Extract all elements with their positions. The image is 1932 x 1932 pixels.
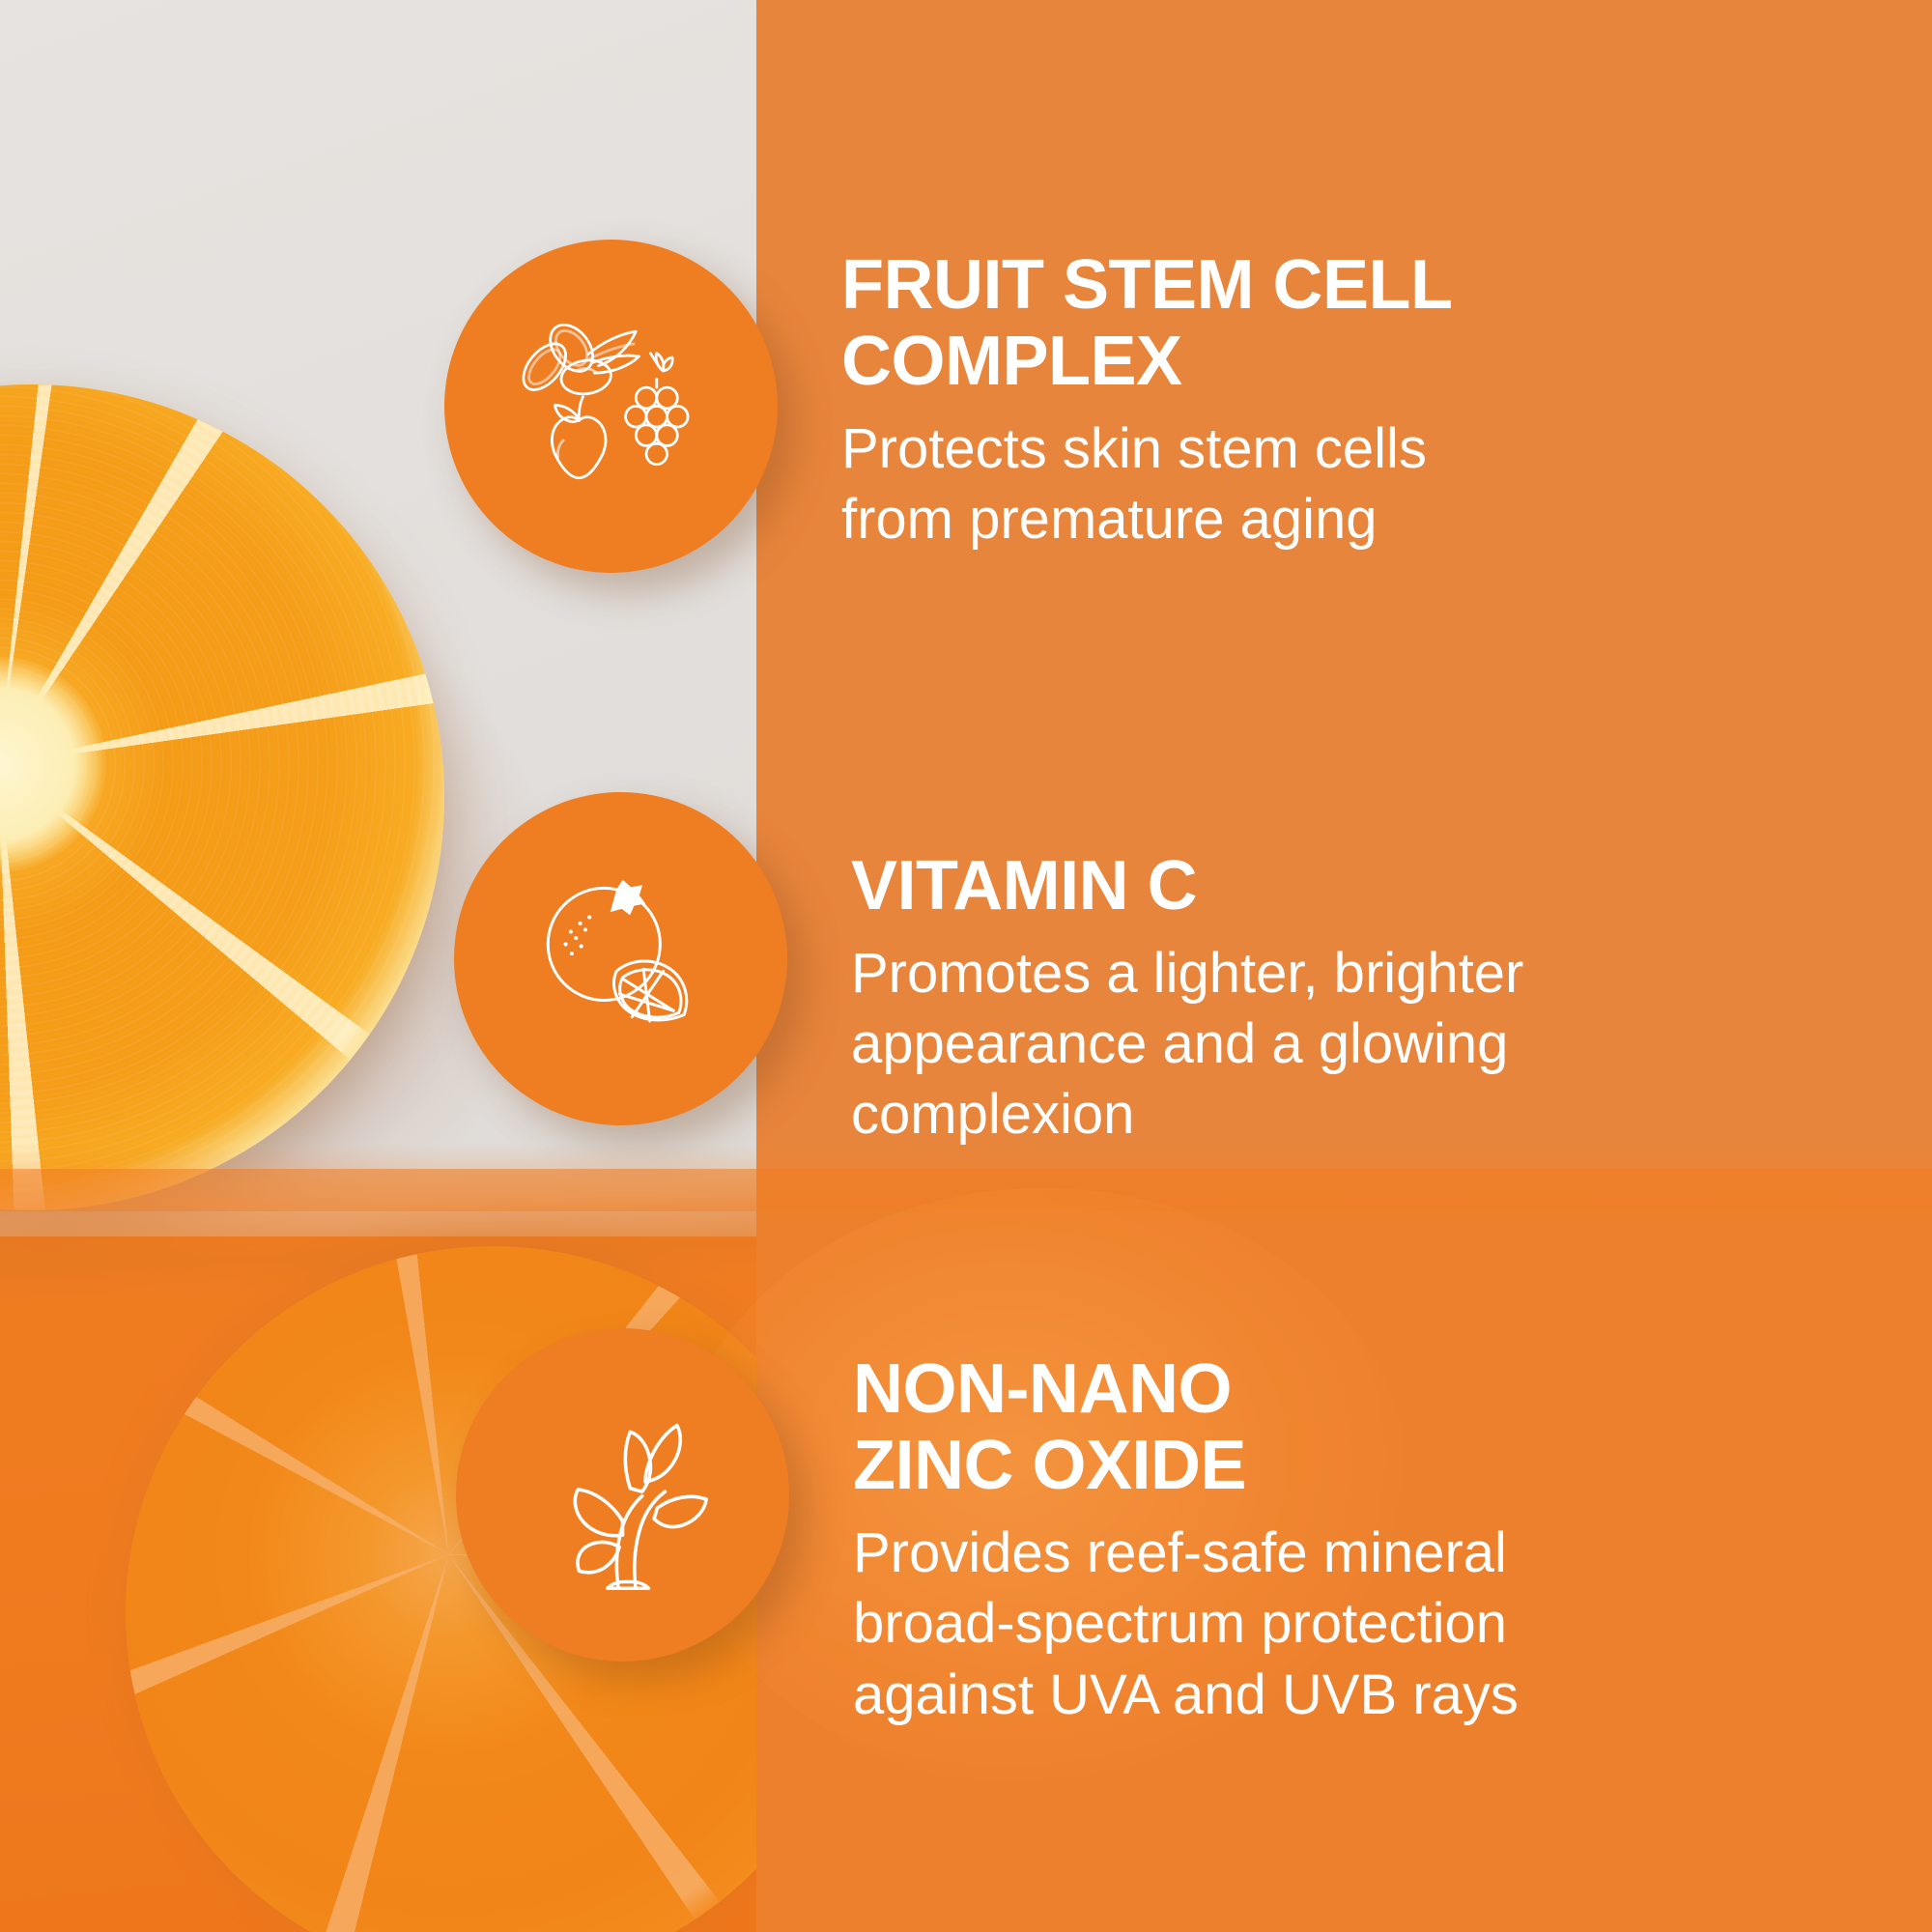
fruit-stem-cell-icon-badge (444, 240, 778, 573)
zinc-oxide-icon-badge (456, 1328, 789, 1662)
feature-title: FRUIT STEM CELL COMPLEX (841, 247, 1452, 400)
feature-text-vitamin-c: VITAMIN C Promotes a lighter, brighter a… (851, 792, 1523, 1150)
fruit-stem-cell-icon (507, 302, 715, 510)
coral-icon (514, 1386, 731, 1604)
feature-row-fruit-stem-cell: FRUIT STEM CELL COMPLEX Protects skin st… (444, 240, 1452, 573)
vitamin-c-icon-badge (454, 792, 787, 1125)
infographic-canvas: FRUIT STEM CELL COMPLEX Protects skin st… (0, 0, 1932, 1932)
feature-title: VITAMIN C (851, 848, 1523, 924)
feature-description: Provides reef-safe mineral broad-spectru… (853, 1518, 1519, 1729)
feature-text-fruit-stem-cell: FRUIT STEM CELL COMPLEX Protects skin st… (841, 240, 1452, 555)
feature-description: Protects skin stem cells from premature … (841, 413, 1452, 554)
feature-row-vitamin-c: VITAMIN C Promotes a lighter, brighter a… (454, 792, 1523, 1150)
feature-row-zinc-oxide: NON-NANO ZINC OXIDE Provides reef-safe m… (456, 1328, 1519, 1730)
feature-title: NON-NANO ZINC OXIDE (853, 1351, 1519, 1504)
orange-fruit-icon (517, 855, 724, 1063)
feature-text-zinc-oxide: NON-NANO ZINC OXIDE Provides reef-safe m… (853, 1328, 1519, 1730)
feature-description: Promotes a lighter, brighter appearance … (851, 938, 1523, 1150)
